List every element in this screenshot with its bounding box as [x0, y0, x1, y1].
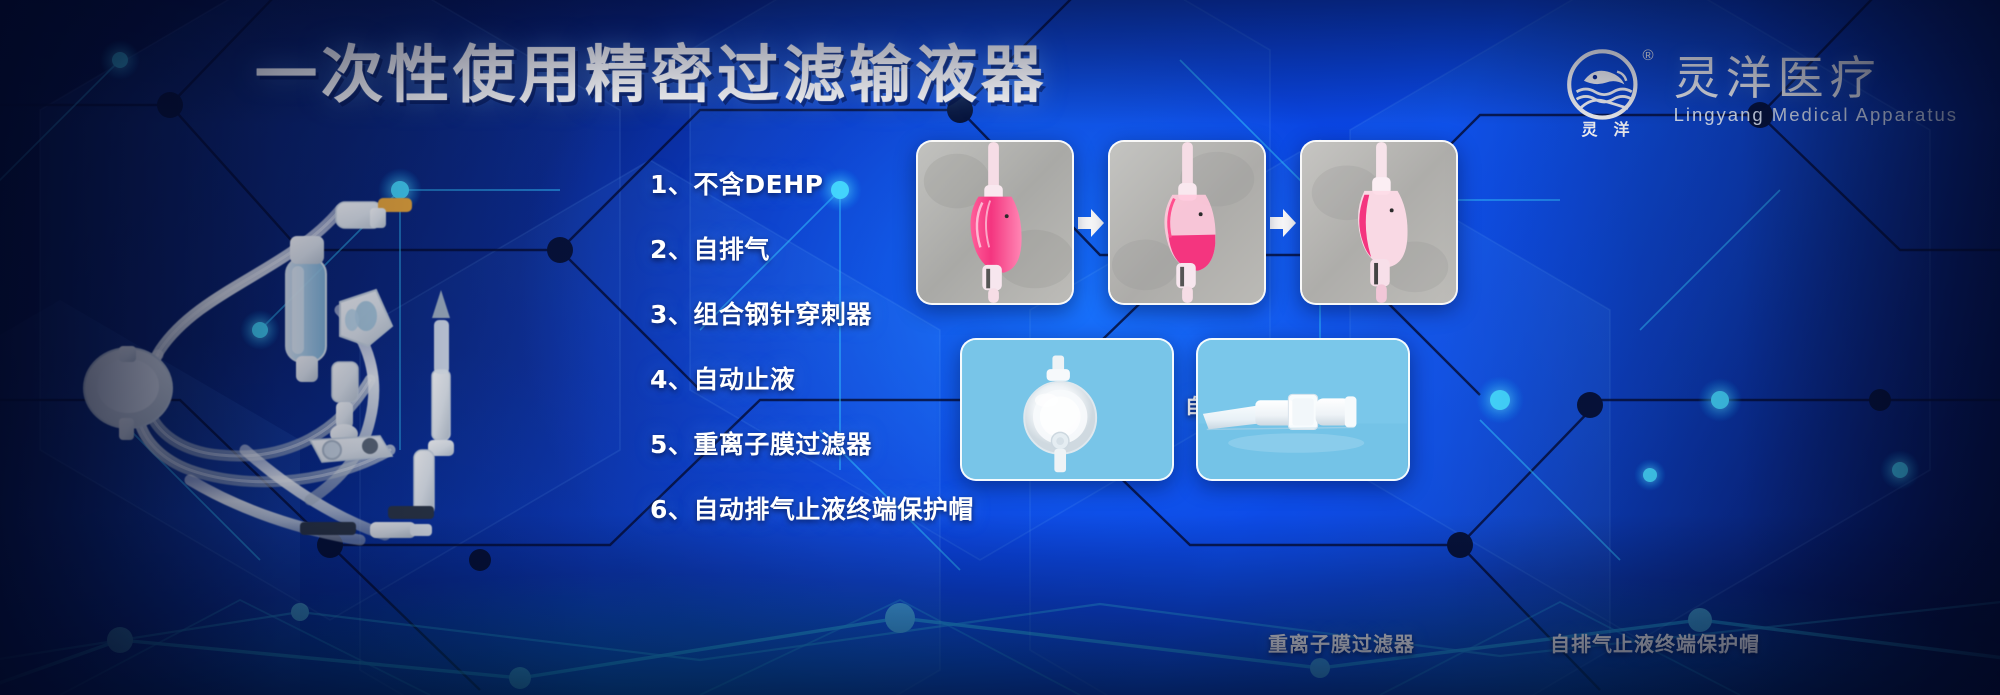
title-block: 一次性使用精密过滤输液器 — [255, 44, 1047, 106]
brand-name-cn: 灵洋医疗 — [1674, 54, 1958, 103]
self-venting-protector-cap-photo — [1198, 340, 1408, 479]
banner-root: 一次性使用精密过滤输液器 ® 灵洋 灵洋医疗 Lingyang Medical … — [0, 0, 2000, 695]
sequence-frame-1 — [916, 140, 1074, 305]
brand-text-block: 灵洋医疗 Lingyang Medical Apparatus — [1674, 54, 1958, 125]
auto-stop-valve-draining-photo — [1110, 142, 1264, 303]
auto-stop-valve-full-photo — [918, 142, 1072, 303]
feature-item-3: 3、组合钢针穿刺器 — [650, 302, 980, 327]
feature-item-4: 4、自动止液 — [650, 367, 980, 392]
caption-filter: 重离子膜过滤器 — [1268, 628, 1415, 657]
sequence-frame-2 — [1108, 140, 1266, 305]
right-arrow-icon — [1270, 208, 1296, 238]
product-photo — [40, 150, 640, 550]
feature-item-6: 6、自动排气止液终端保护帽 — [650, 497, 980, 522]
registered-trademark-icon: ® — [1643, 48, 1654, 63]
right-arrow-icon — [1078, 208, 1104, 238]
heavy-ion-membrane-filter-photo — [962, 340, 1172, 479]
brand-name-en: Lingyang Medical Apparatus — [1674, 105, 1958, 125]
brand-lockup: ® 灵洋 灵洋医疗 Lingyang Medical Apparatus — [1560, 44, 1958, 136]
page-title: 一次性使用精密过滤输液器 — [255, 44, 1047, 106]
infusion-set-illustration — [40, 150, 640, 550]
protector-cap-photo-card — [1196, 338, 1410, 481]
auto-stop-valve-closed-photo — [1302, 142, 1456, 303]
filter-photo-card — [960, 338, 1174, 481]
sequence-arrow-1 — [1074, 208, 1108, 238]
auto-stop-sequence-row — [916, 140, 1458, 305]
sequence-frame-3 — [1300, 140, 1458, 305]
bottom-panels-row — [960, 338, 1410, 481]
sequence-arrow-2 — [1266, 208, 1300, 238]
caption-protector-cap: 自排气止液终端保护帽 — [1550, 628, 1760, 657]
feature-item-5: 5、重离子膜过滤器 — [650, 432, 980, 457]
brand-logo-icon: ® 灵洋 — [1560, 44, 1652, 136]
brand-logo-caption: 灵洋 — [1560, 116, 1652, 140]
